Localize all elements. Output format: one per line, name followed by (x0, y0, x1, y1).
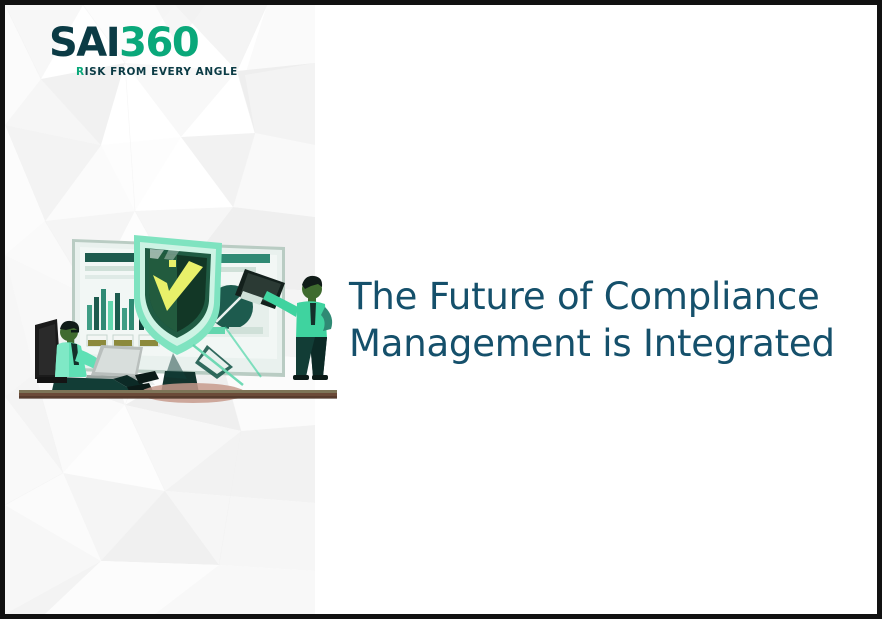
page-title: The Future of Compliance Management is I… (349, 273, 849, 367)
logo-text-360: 360 (119, 20, 198, 66)
sai360-logo[interactable]: SAI360 RISK FROM EVERY ANGLE (49, 23, 249, 85)
logo-text-sai: SAI (49, 20, 119, 66)
title-line-2: Management is Integrated (349, 320, 849, 367)
logo-tagline-rest: ISK FROM EVERY ANGLE (85, 66, 238, 78)
logo-tagline: RISK FROM EVERY ANGLE (76, 66, 249, 78)
slide-canvas: SAI360 RISK FROM EVERY ANGLE (5, 5, 877, 614)
logo-tagline-initial: R (76, 66, 85, 78)
slide-frame: SAI360 RISK FROM EVERY ANGLE (0, 0, 882, 619)
compliance-dashboard-illustration (17, 227, 339, 417)
logo-wordmark: SAI360 (49, 23, 249, 63)
title-line-1: The Future of Compliance (349, 273, 849, 320)
